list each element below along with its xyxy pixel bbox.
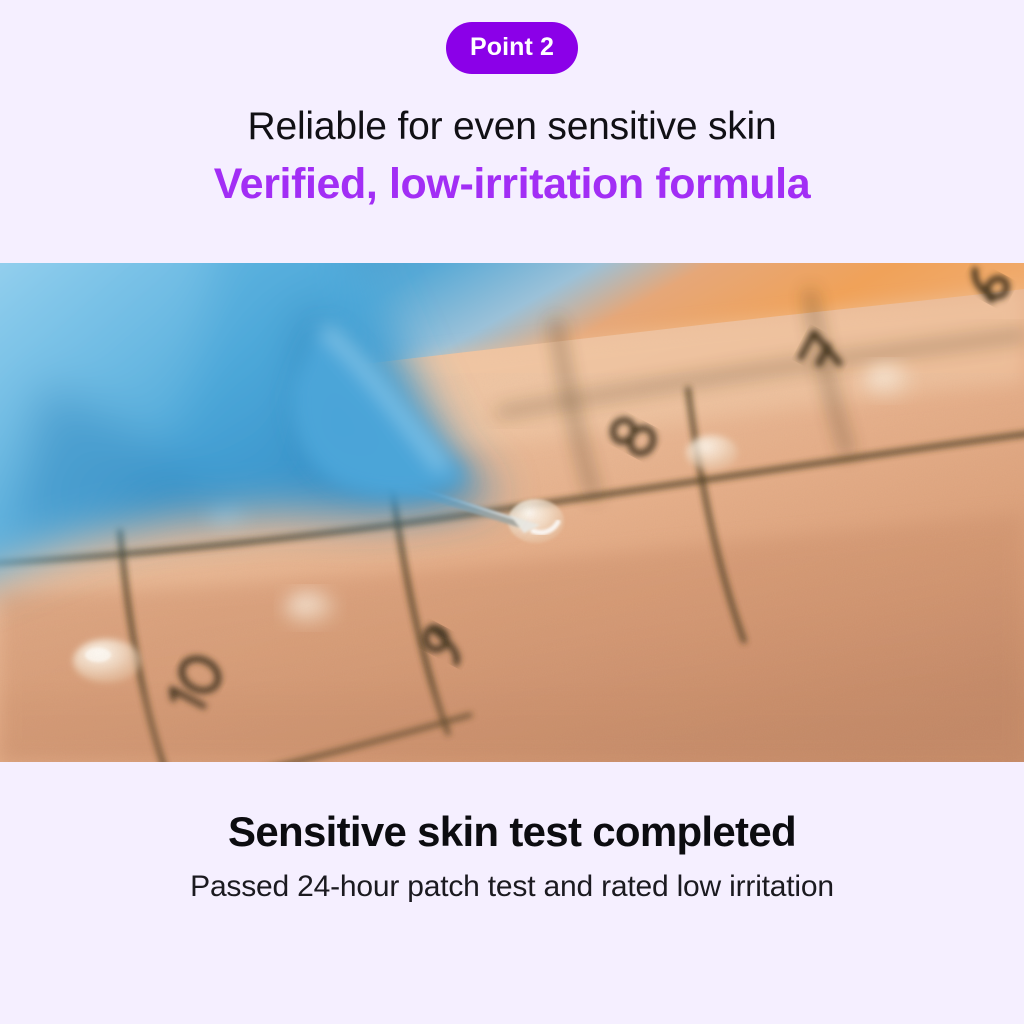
header-section: Point 2 Reliable for even sensitive skin…	[0, 0, 1024, 263]
headline-accent: Verified, low-irritation formula	[0, 159, 1024, 211]
skin-test-illustration	[0, 263, 1024, 762]
skin-test-photo	[0, 263, 1024, 762]
footer-section: Sensitive skin test completed Passed 24-…	[0, 762, 1024, 1024]
promo-card: Point 2 Reliable for even sensitive skin…	[0, 0, 1024, 1024]
footer-title: Sensitive skin test completed	[228, 809, 796, 855]
headline-primary: Reliable for even sensitive skin	[0, 105, 1024, 149]
badge-row: Point 2	[446, 22, 578, 74]
footer-subtitle: Passed 24-hour patch test and rated low …	[190, 869, 834, 905]
point-badge: Point 2	[446, 22, 578, 74]
headline-block: Reliable for even sensitive skin Verifie…	[0, 105, 1024, 210]
